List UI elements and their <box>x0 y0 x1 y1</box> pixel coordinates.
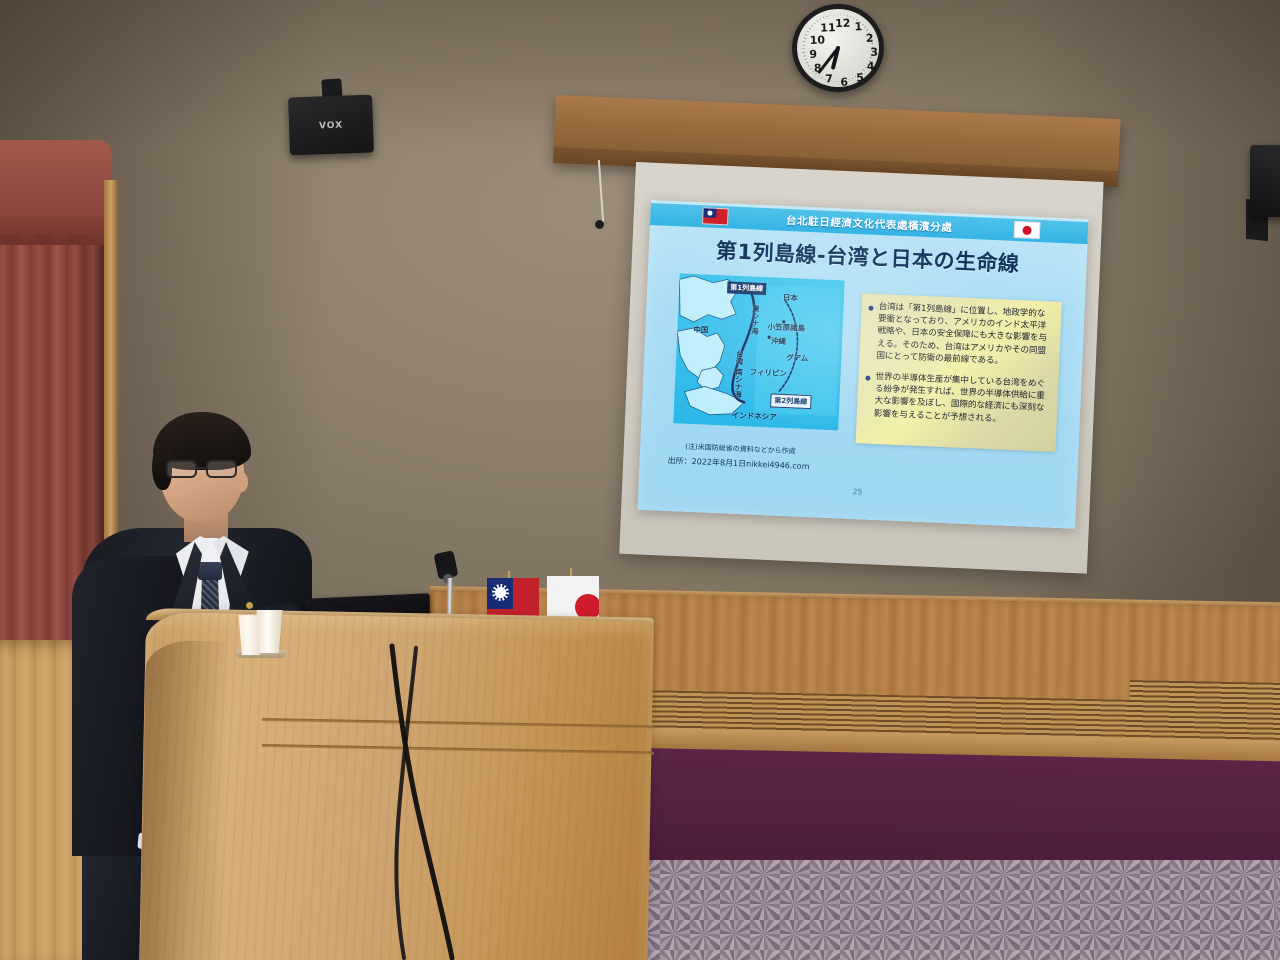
clock-numeral-2: 2 <box>862 32 876 45</box>
map-label-okinawa: 沖縄 <box>771 335 786 347</box>
map-label-ogasawara: 小笠原諸島 <box>767 321 805 334</box>
clock-numeral-3: 3 <box>867 45 881 58</box>
speaker-brand-logo: VOX <box>319 121 343 132</box>
wall-speaker-right <box>1250 145 1280 217</box>
screen-pull-cord-knob[interactable] <box>595 220 604 229</box>
curtain-valance <box>0 140 112 245</box>
japan-flag-icon <box>1014 221 1041 239</box>
flag-disc <box>1022 225 1031 234</box>
map-label-japan: 日本 <box>783 292 798 304</box>
slide-source-line: 出所：2022年8月1日nikkei4946.com <box>667 455 809 472</box>
clock-numeral-12: 12 <box>835 17 849 30</box>
slide-bullet-text-2: 世界の半導体生産が集中している台湾をめぐる紛争が発生すれば、世界の半導体供給に重… <box>874 371 1051 427</box>
map-label-taiwan: 台湾 <box>734 350 746 365</box>
slide-header-title: 台北駐日經濟文化代表處橫濱分處 <box>786 212 953 234</box>
desk-flag-sun <box>495 587 506 598</box>
second-island-chain-label: 第2列島線 <box>770 393 811 409</box>
clock-numeral-10: 10 <box>809 33 823 46</box>
eyeglass-bridge <box>197 467 208 469</box>
eyeglass-lens-right <box>206 460 237 478</box>
clock-numeral-6: 6 <box>837 76 851 89</box>
wall-vent-grille-secondary <box>1129 680 1280 731</box>
map-label-east-china-sea: 東シナ海 <box>749 304 761 334</box>
eyeglasses-icon <box>164 460 242 478</box>
map-label-philippines: フィリピン <box>749 366 787 379</box>
slide-bullet-item: 世界の半導体生産が集中している台湾をめぐる紛争が発生すれば、世界の半導体供給に重… <box>864 371 1051 428</box>
flag-sun <box>708 211 713 216</box>
slide-note: (注)米国防総省の資料などから作成 <box>685 442 796 457</box>
map-label-indonesia: インドネシア <box>731 410 776 423</box>
taiwan-flag-icon <box>702 207 729 225</box>
clock-numeral-5: 5 <box>853 71 867 84</box>
presentation-room-photo: 12 1 2 3 4 5 6 7 8 9 10 11 VOX 台北駐日經濟文化代… <box>0 0 1280 960</box>
wall-speaker-left: VOX <box>288 95 374 156</box>
eyeglass-lens-left <box>166 460 197 478</box>
map-label-china: 中国 <box>693 324 708 336</box>
bullet-marker-icon <box>865 376 870 381</box>
slide-bullet-text-1: 台湾は「第1列島線」に位置し、地政学的な要衝となっており、アメリカのインド太平洋… <box>876 301 1053 370</box>
podium-left-shading <box>140 640 250 960</box>
projected-slide: 台北駐日經濟文化代表處橫濱分處 第1列島線-台湾と日本の生命線 <box>637 200 1088 529</box>
map-label-guam: グアム <box>786 352 808 364</box>
map-label-south-china-sea: 南シナ海 <box>732 368 744 398</box>
map-vector-art <box>673 273 844 430</box>
slide-text-panel: 台湾は「第1列島線」に位置し、地政学的な要衝となっており、アメリカのインド太平洋… <box>856 293 1062 452</box>
bullet-marker-icon <box>868 306 873 311</box>
first-island-chain-label: 第1列島線 <box>727 281 766 295</box>
clock-numeral-9: 9 <box>806 48 820 61</box>
slide-bullet-item: 台湾は「第1列島線」に位置し、地政学的な要衝となっており、アメリカのインド太平洋… <box>866 301 1053 370</box>
necktie-knot <box>198 562 222 580</box>
first-island-chain-map: 中国 日本 東シナ海 小笠原諸島 沖縄 台湾 グアム フィリピン 南シナ海 イン… <box>673 273 844 430</box>
clock-numeral-11: 11 <box>820 21 834 34</box>
slide-page-number: 25 <box>638 478 1076 506</box>
